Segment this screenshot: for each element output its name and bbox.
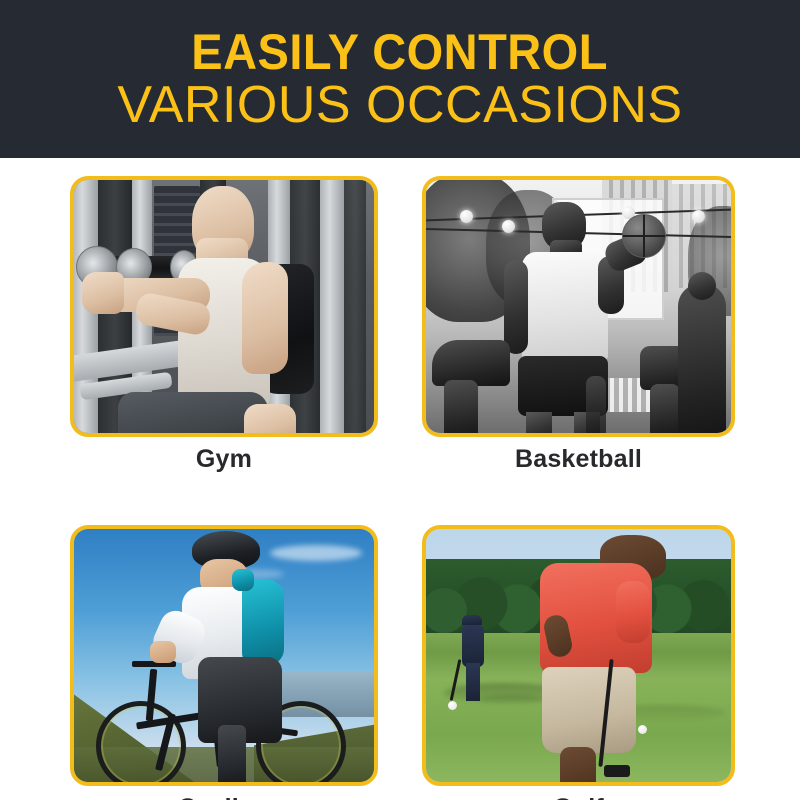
- gym-photo: [74, 180, 374, 433]
- occasion-label-basketball: Basketball: [422, 437, 735, 481]
- occasion-card-grid: Gym: [70, 176, 735, 800]
- basketball-photo: [426, 180, 731, 433]
- occasion-card-golf[interactable]: Golf: [422, 525, 735, 800]
- occasion-card-basketball[interactable]: Basketball: [422, 176, 735, 481]
- occasion-card-cycling[interactable]: Cycling: [70, 525, 378, 800]
- occasion-label-cycling: Cycling: [70, 786, 378, 800]
- cycling-photo: [74, 529, 374, 782]
- infographic-page: EASILY CONTROL VARIOUS OCCASIONS: [0, 0, 800, 800]
- header-banner: EASILY CONTROL VARIOUS OCCASIONS: [0, 0, 800, 158]
- gym-photo-frame: [70, 176, 378, 437]
- cycling-photo-frame: [70, 525, 378, 786]
- golf-photo: [426, 529, 731, 782]
- golf-photo-frame: [422, 525, 735, 786]
- occasion-card-gym[interactable]: Gym: [70, 176, 378, 481]
- occasion-label-golf: Golf: [422, 786, 735, 800]
- headline-secondary: VARIOUS OCCASIONS: [117, 78, 682, 132]
- basketball-photo-frame: [422, 176, 735, 437]
- occasion-label-gym: Gym: [70, 437, 378, 481]
- headline-primary: EASILY CONTROL: [192, 26, 609, 78]
